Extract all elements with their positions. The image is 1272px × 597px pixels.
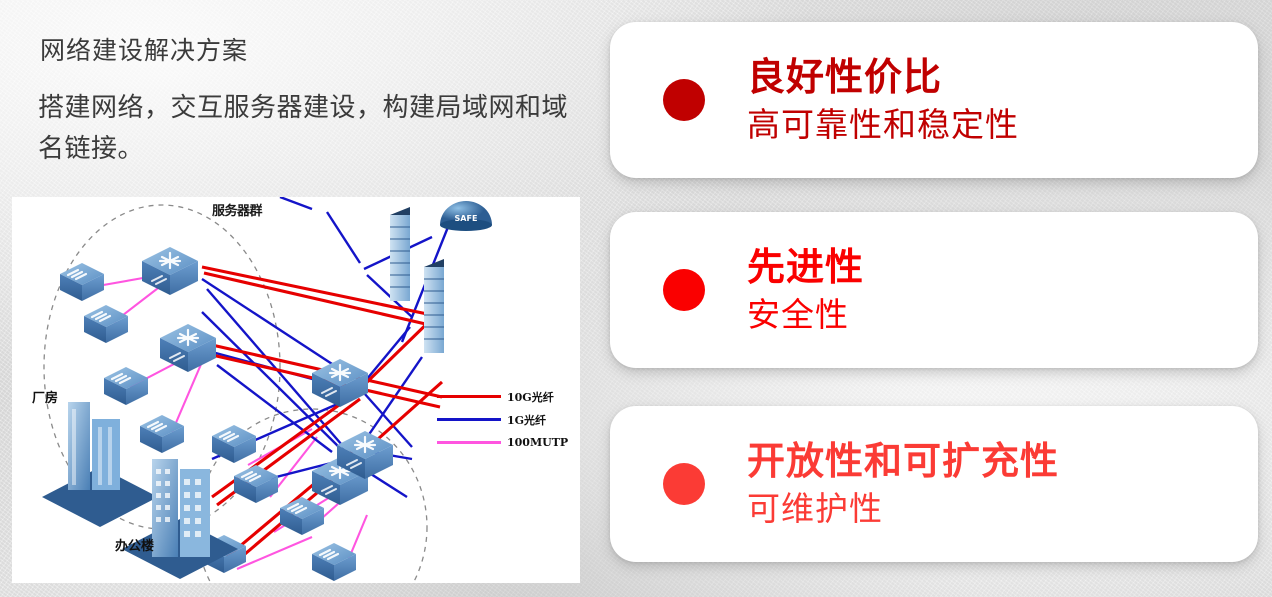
feature-cards-list: 良好性价比 高可靠性和稳定性 先进性 安全性 开放性和可扩充性 可维护性 [0, 0, 1272, 597]
feature-card-title: 先进性 [747, 243, 864, 291]
slide-background: 网络建设解决方案 搭建网络，交互服务器建设，构建局域网和域名链接。 [0, 0, 1272, 597]
feature-card-subtitle: 可维护性 [747, 485, 1059, 532]
feature-card-text: 先进性 安全性 [747, 243, 864, 338]
bullet-dot-icon [663, 269, 705, 311]
feature-card-title: 开放性和可扩充性 [747, 437, 1059, 485]
bullet-dot-icon [663, 79, 705, 121]
bullet-dot-icon [663, 463, 705, 505]
feature-card-text: 开放性和可扩充性 可维护性 [747, 437, 1059, 532]
feature-card-cost-performance[interactable]: 良好性价比 高可靠性和稳定性 [610, 22, 1258, 178]
feature-card-title: 良好性价比 [747, 53, 1019, 101]
feature-card-advancement[interactable]: 先进性 安全性 [610, 212, 1258, 368]
feature-card-subtitle: 安全性 [747, 291, 864, 338]
feature-card-subtitle: 高可靠性和稳定性 [747, 101, 1019, 148]
feature-card-text: 良好性价比 高可靠性和稳定性 [747, 53, 1019, 148]
feature-card-openness-scalability[interactable]: 开放性和可扩充性 可维护性 [610, 406, 1258, 562]
